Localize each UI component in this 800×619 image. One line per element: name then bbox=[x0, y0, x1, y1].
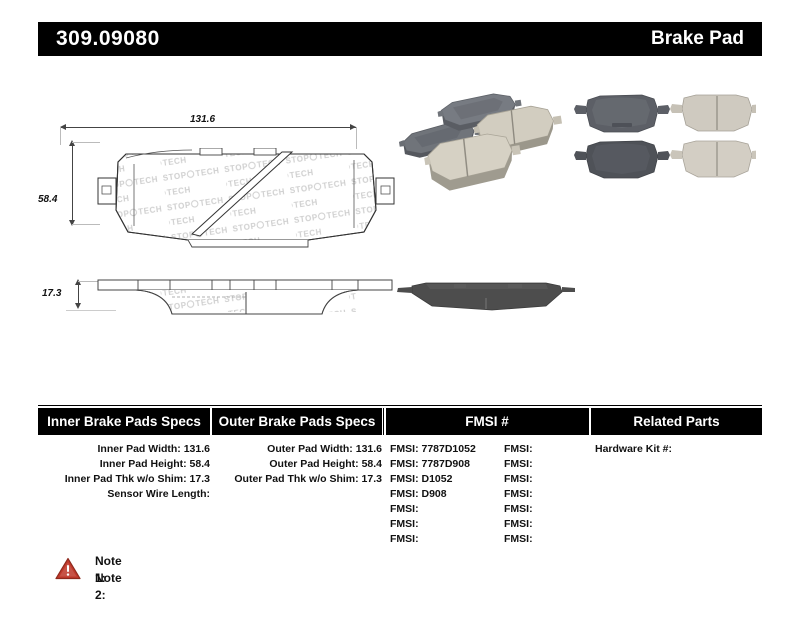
product-photo-grid bbox=[566, 92, 756, 187]
related-part-row: Hardware Kit #: bbox=[595, 442, 672, 457]
column-divider-2 bbox=[588, 408, 589, 435]
table-top-rule bbox=[38, 405, 762, 406]
fmsi-row: FMSI: bbox=[504, 487, 533, 502]
height-dimension-label: 58.4 bbox=[38, 194, 57, 205]
inner-spec-row: Inner Pad Height: 58.4 bbox=[38, 457, 210, 472]
column-header-inner: Inner Brake Pads Specs bbox=[38, 408, 210, 435]
product-type-title: Brake Pad bbox=[0, 27, 744, 51]
fmsi-row: FMSI: bbox=[390, 502, 419, 517]
table-header-row: Inner Brake Pads Specs Outer Brake Pads … bbox=[38, 408, 762, 435]
fmsi-row: FMSI: bbox=[504, 532, 533, 547]
drawing-area: 131.6 58.4 17.3 STOP TECH STOP TECH bbox=[38, 70, 762, 390]
height-arrow-down bbox=[69, 220, 75, 226]
height-dimension-line bbox=[72, 142, 73, 224]
fmsi-row: FMSI: bbox=[504, 502, 533, 517]
product-photo-isometric bbox=[398, 90, 568, 200]
inner-spec-row: Inner Pad Thk w/o Shim: 17.3 bbox=[38, 472, 210, 487]
width-dimension-label: 131.6 bbox=[190, 114, 215, 125]
fmsi-row: FMSI: bbox=[504, 442, 533, 457]
warning-triangle-icon bbox=[55, 557, 81, 580]
pad-front-view-drawing: STOP TECH STOP TECH bbox=[96, 148, 396, 253]
outer-spec-row: Outer Pad Thk w/o Shim: 17.3 bbox=[212, 472, 382, 487]
thickness-dimension-label: 17.3 bbox=[42, 288, 61, 299]
pad-edge-view-drawing bbox=[96, 278, 396, 333]
column-header-outer: Outer Brake Pads Specs bbox=[212, 408, 382, 435]
fmsi-row: FMSI: D908 bbox=[390, 487, 447, 502]
spec-table: Inner Brake Pads Specs Outer Brake Pads … bbox=[38, 408, 762, 435]
fmsi-row: FMSI: bbox=[390, 532, 419, 547]
fmsi-row: FMSI: bbox=[504, 517, 533, 532]
outer-spec-row: Outer Pad Width: 131.6 bbox=[212, 442, 382, 457]
thickness-arrow-up bbox=[75, 279, 81, 285]
height-arrow-up bbox=[69, 140, 75, 146]
inner-spec-row: Sensor Wire Length: bbox=[38, 487, 210, 502]
width-ext-left bbox=[60, 127, 61, 145]
column-header-fmsi: FMSI # bbox=[386, 408, 588, 435]
column-divider-1 bbox=[383, 408, 384, 435]
outer-spec-row: Outer Pad Height: 58.4 bbox=[212, 457, 382, 472]
thickness-arrow-down bbox=[75, 303, 81, 309]
width-dimension-line bbox=[60, 127, 356, 128]
fmsi-row: FMSI: D1052 bbox=[390, 472, 452, 487]
product-photo-edge bbox=[396, 276, 576, 324]
fmsi-row: FMSI: bbox=[504, 457, 533, 472]
fmsi-row: FMSI: bbox=[390, 517, 419, 532]
fmsi-row: FMSI: bbox=[504, 472, 533, 487]
inner-spec-row: Inner Pad Width: 131.6 bbox=[38, 442, 210, 457]
fmsi-row: FMSI: 7787D1052 bbox=[390, 442, 476, 457]
height-ext-top bbox=[72, 142, 100, 143]
width-ext-right bbox=[356, 127, 357, 149]
note-2: Note 2: bbox=[95, 570, 122, 604]
column-header-related: Related Parts bbox=[591, 408, 762, 435]
fmsi-row: FMSI: 7787D908 bbox=[390, 457, 470, 472]
